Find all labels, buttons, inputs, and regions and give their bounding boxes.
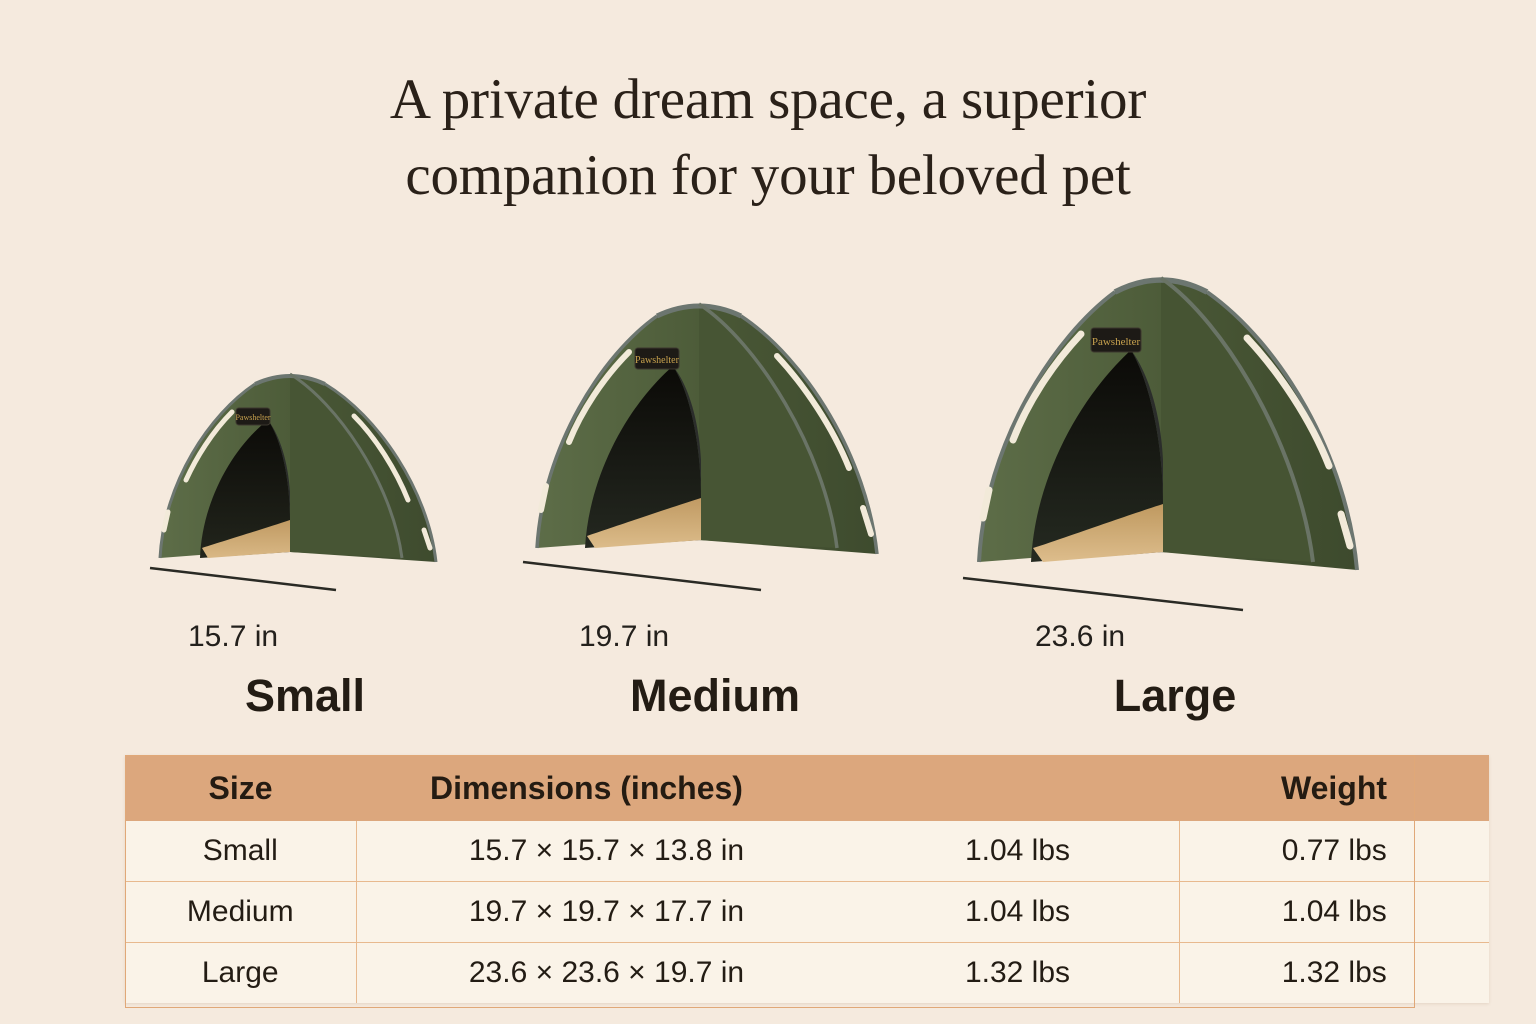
table-row: Medium 19.7 × 19.7 × 17.7 in 1.04 lbs 1.…	[125, 882, 1489, 943]
cell-weight: 1.04 lbs	[1179, 882, 1489, 943]
tent-illustration-large: Pawshelter	[955, 262, 1395, 617]
tent-graphic-medium: Pawshelter	[515, 290, 915, 595]
cell-dimensions-extra: 1.04 lbs	[857, 834, 1179, 868]
cell-dimensions-value: 23.6 × 23.6 × 19.7 in	[357, 956, 857, 990]
product-item-medium: Pawshelter 19.7 in Medium	[515, 262, 915, 732]
size-label-large: Large	[955, 670, 1395, 722]
column-header-dimensions: Dimensions (inches)	[356, 755, 1179, 821]
spec-table-header: Size Dimensions (inches) Weight	[125, 755, 1489, 821]
measure-label-small: 15.7 in	[188, 620, 278, 654]
spec-table-body: Small 15.7 × 15.7 × 13.8 in 1.04 lbs 0.7…	[125, 821, 1489, 1003]
product-showcase: Pawshelter 15.7 in Small	[0, 262, 1536, 732]
tent-illustration-medium: Pawshelter	[515, 290, 915, 595]
spec-table-header-row: Size Dimensions (inches) Weight	[125, 755, 1489, 821]
tent-illustration-small: Pawshelter	[140, 362, 470, 592]
table-row: Large 23.6 × 23.6 × 19.7 in 1.32 lbs 1.3…	[125, 943, 1489, 1004]
cell-dimensions-extra: 1.32 lbs	[857, 956, 1179, 990]
page-title-line-1: A private dream space, a superior	[0, 62, 1536, 138]
column-header-size: Size	[125, 755, 356, 821]
cell-dimensions-value: 19.7 × 19.7 × 17.7 in	[357, 895, 857, 929]
page-title: A private dream space, a superior compan…	[0, 62, 1536, 214]
cell-weight: 1.32 lbs	[1179, 943, 1489, 1004]
size-label-small: Small	[140, 670, 470, 722]
tent-badge-text-large: Pawshelter	[1092, 336, 1141, 348]
measure-label-medium: 19.7 in	[579, 620, 669, 654]
cell-dimensions-extra: 1.04 lbs	[857, 895, 1179, 929]
page-title-line-2: companion for your beloved pet	[0, 138, 1536, 214]
tent-graphic-small: Pawshelter	[140, 362, 470, 592]
column-header-weight: Weight	[1179, 755, 1489, 821]
cell-size: Small	[125, 821, 356, 882]
product-item-large: Pawshelter 23.6 in Large	[955, 262, 1395, 732]
cell-weight: 0.77 lbs	[1179, 821, 1489, 882]
cell-dimensions: 23.6 × 23.6 × 19.7 in 1.32 lbs	[356, 943, 1179, 1004]
tent-badge-text-medium: Pawshelter	[635, 355, 680, 366]
cell-size: Medium	[125, 882, 356, 943]
tent-badge-text-small: Pawshelter	[235, 413, 270, 422]
cell-dimensions: 19.7 × 19.7 × 17.7 in 1.04 lbs	[356, 882, 1179, 943]
table-row: Small 15.7 × 15.7 × 13.8 in 1.04 lbs 0.7…	[125, 821, 1489, 882]
cell-dimensions-value: 15.7 × 15.7 × 13.8 in	[357, 834, 857, 868]
measure-label-large: 23.6 in	[1035, 620, 1125, 654]
product-item-small: Pawshelter 15.7 in Small	[140, 262, 470, 732]
cell-size: Large	[125, 943, 356, 1004]
size-label-medium: Medium	[515, 670, 915, 722]
spec-table: Size Dimensions (inches) Weight Small 15…	[125, 755, 1489, 1003]
cell-dimensions: 15.7 × 15.7 × 13.8 in 1.04 lbs	[356, 821, 1179, 882]
tent-graphic-large: Pawshelter	[955, 262, 1395, 617]
